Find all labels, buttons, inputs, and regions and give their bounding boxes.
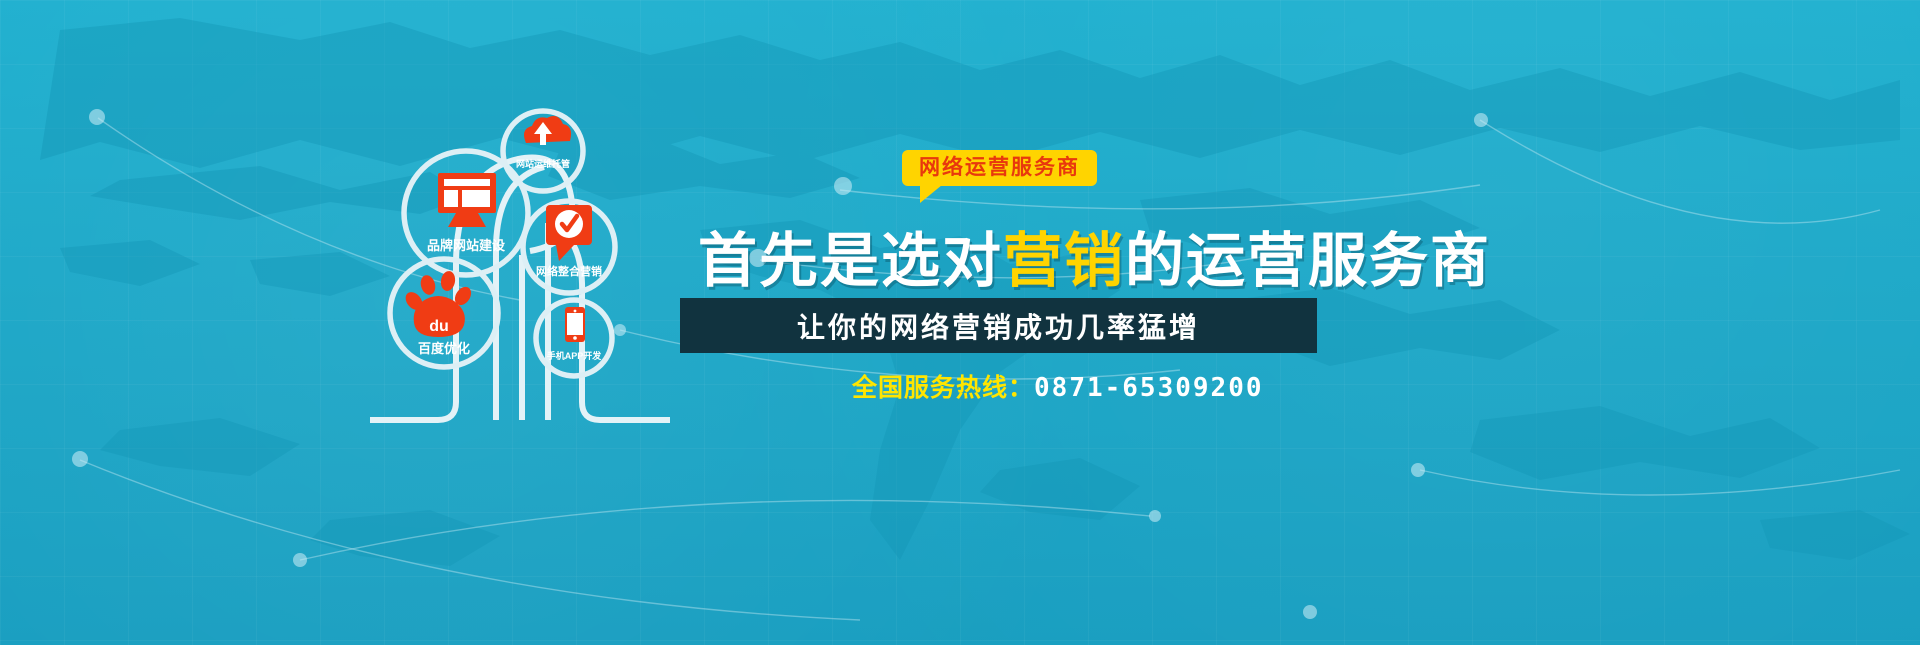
node-label-website-maintenance: 网站运维托管 [516, 158, 570, 169]
node-label-app-development: 手机APP开发 [547, 350, 603, 361]
service-badge-label: 网络运营服务商 [919, 156, 1080, 179]
hotline: 全国服务热线：0871-65309200 [852, 368, 1264, 404]
hotline-number: 0871-65309200 [1034, 373, 1264, 403]
headline: 首先是选对营销的运营服务商 [698, 213, 1491, 298]
node-label-integrated-marketing: 网络整合营销 [536, 264, 602, 278]
chat-check-icon [546, 205, 592, 261]
banner-content: 网络运营服务商 首先是选对营销的运营服务商 让你的网络营销成功几率猛增 全国服务… [680, 150, 1380, 420]
smartphone-icon [565, 307, 585, 342]
hotline-label: 全国服务热线： [852, 374, 1034, 402]
node-label-baidu-optimization: 百度优化 [418, 341, 470, 356]
node-baidu-optimization: du 百度优化 [390, 259, 498, 367]
headline-highlight: 营销 [1003, 228, 1125, 294]
baidu-paw-icon: du [402, 270, 474, 337]
cloud-upload-icon [524, 116, 571, 145]
subtitle-label: 让你的网络营销成功几率猛增 [797, 306, 1200, 346]
service-badge: 网络运营服务商 [902, 150, 1097, 186]
badge-tail [920, 185, 942, 203]
service-tree-graphic: .stem { fill:none; stroke:#e3f2f7; strok… [360, 95, 690, 435]
headline-after: 的运营服务商 [1125, 228, 1491, 294]
monitor-icon [438, 173, 496, 227]
node-label-brand-website: 品牌网站建设 [427, 238, 506, 253]
node-website-maintenance: 网站运维托管 [503, 111, 583, 191]
headline-before: 首先是选对 [698, 228, 1003, 294]
baidu-du-text: du [429, 318, 449, 335]
marketing-banner: .stem { fill:none; stroke:#e3f2f7; strok… [0, 0, 1920, 645]
subtitle-bar: 让你的网络营销成功几率猛增 [680, 298, 1317, 353]
